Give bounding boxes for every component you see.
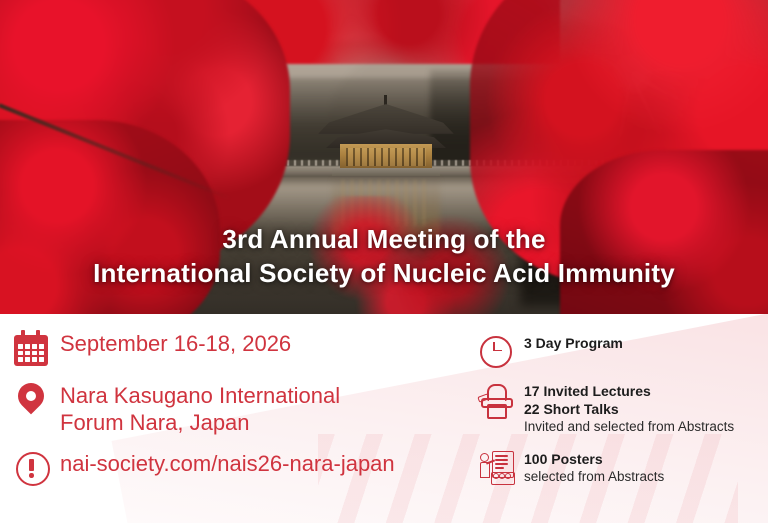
invited-lectures-count: 17 Invited Lectures (524, 382, 734, 400)
website-row[interactable]: nai-society.com/nais26-nara-japan (12, 450, 462, 488)
program-length-row: 3 Day Program (478, 334, 764, 368)
date-row: September 16-18, 2026 (12, 330, 462, 368)
poster-presentation-icon (478, 450, 512, 484)
short-talks-count: 22 Short Talks (524, 400, 734, 418)
calendar-icon (12, 330, 50, 368)
info-column-right: 3 Day Program 17 Invited Lectures 22 Sho… (478, 334, 764, 500)
conference-announcement-poster: 3rd Annual Meeting of the International … (0, 0, 768, 523)
website-url[interactable]: nai-society.com/nais26-nara-japan (60, 450, 395, 477)
lectures-text: 17 Invited Lectures 22 Short Talks Invit… (524, 382, 734, 436)
venue-line-2: Forum Nara, Japan (60, 409, 340, 436)
venue-line-1: Nara Kasugano International (60, 382, 340, 409)
exclamation-circle-icon (12, 450, 50, 488)
info-panel: September 16-18, 2026 Nara Kasugano Inte… (0, 314, 768, 523)
posters-text: 100 Posters selected from Abstracts (524, 450, 664, 486)
venue-row: Nara Kasugano International Forum Nara, … (12, 382, 462, 436)
program-length-text: 3 Day Program (524, 334, 623, 352)
map-pin-icon (12, 382, 50, 420)
posters-row: 100 Posters selected from Abstracts (478, 450, 764, 486)
info-column-left: September 16-18, 2026 Nara Kasugano Inte… (12, 330, 462, 502)
ukimido-pavilion (330, 104, 442, 180)
meeting-title-line-2: International Society of Nucleic Acid Im… (0, 256, 768, 290)
lectures-subtext: Invited and selected from Abstracts (524, 418, 734, 436)
lectern-icon (478, 382, 512, 416)
posters-count: 100 Posters (524, 450, 664, 468)
lectures-row: 17 Invited Lectures 22 Short Talks Invit… (478, 382, 764, 436)
meeting-title: 3rd Annual Meeting of the International … (0, 222, 768, 290)
program-length-heading: 3 Day Program (524, 334, 623, 352)
pavilion-base (332, 168, 440, 176)
pavilion-body (340, 144, 432, 170)
clock-icon (478, 334, 512, 368)
venue-text: Nara Kasugano International Forum Nara, … (60, 382, 340, 436)
meeting-title-line-1: 3rd Annual Meeting of the (0, 222, 768, 256)
posters-subtext: selected from Abstracts (524, 468, 664, 486)
date-text: September 16-18, 2026 (60, 330, 291, 357)
